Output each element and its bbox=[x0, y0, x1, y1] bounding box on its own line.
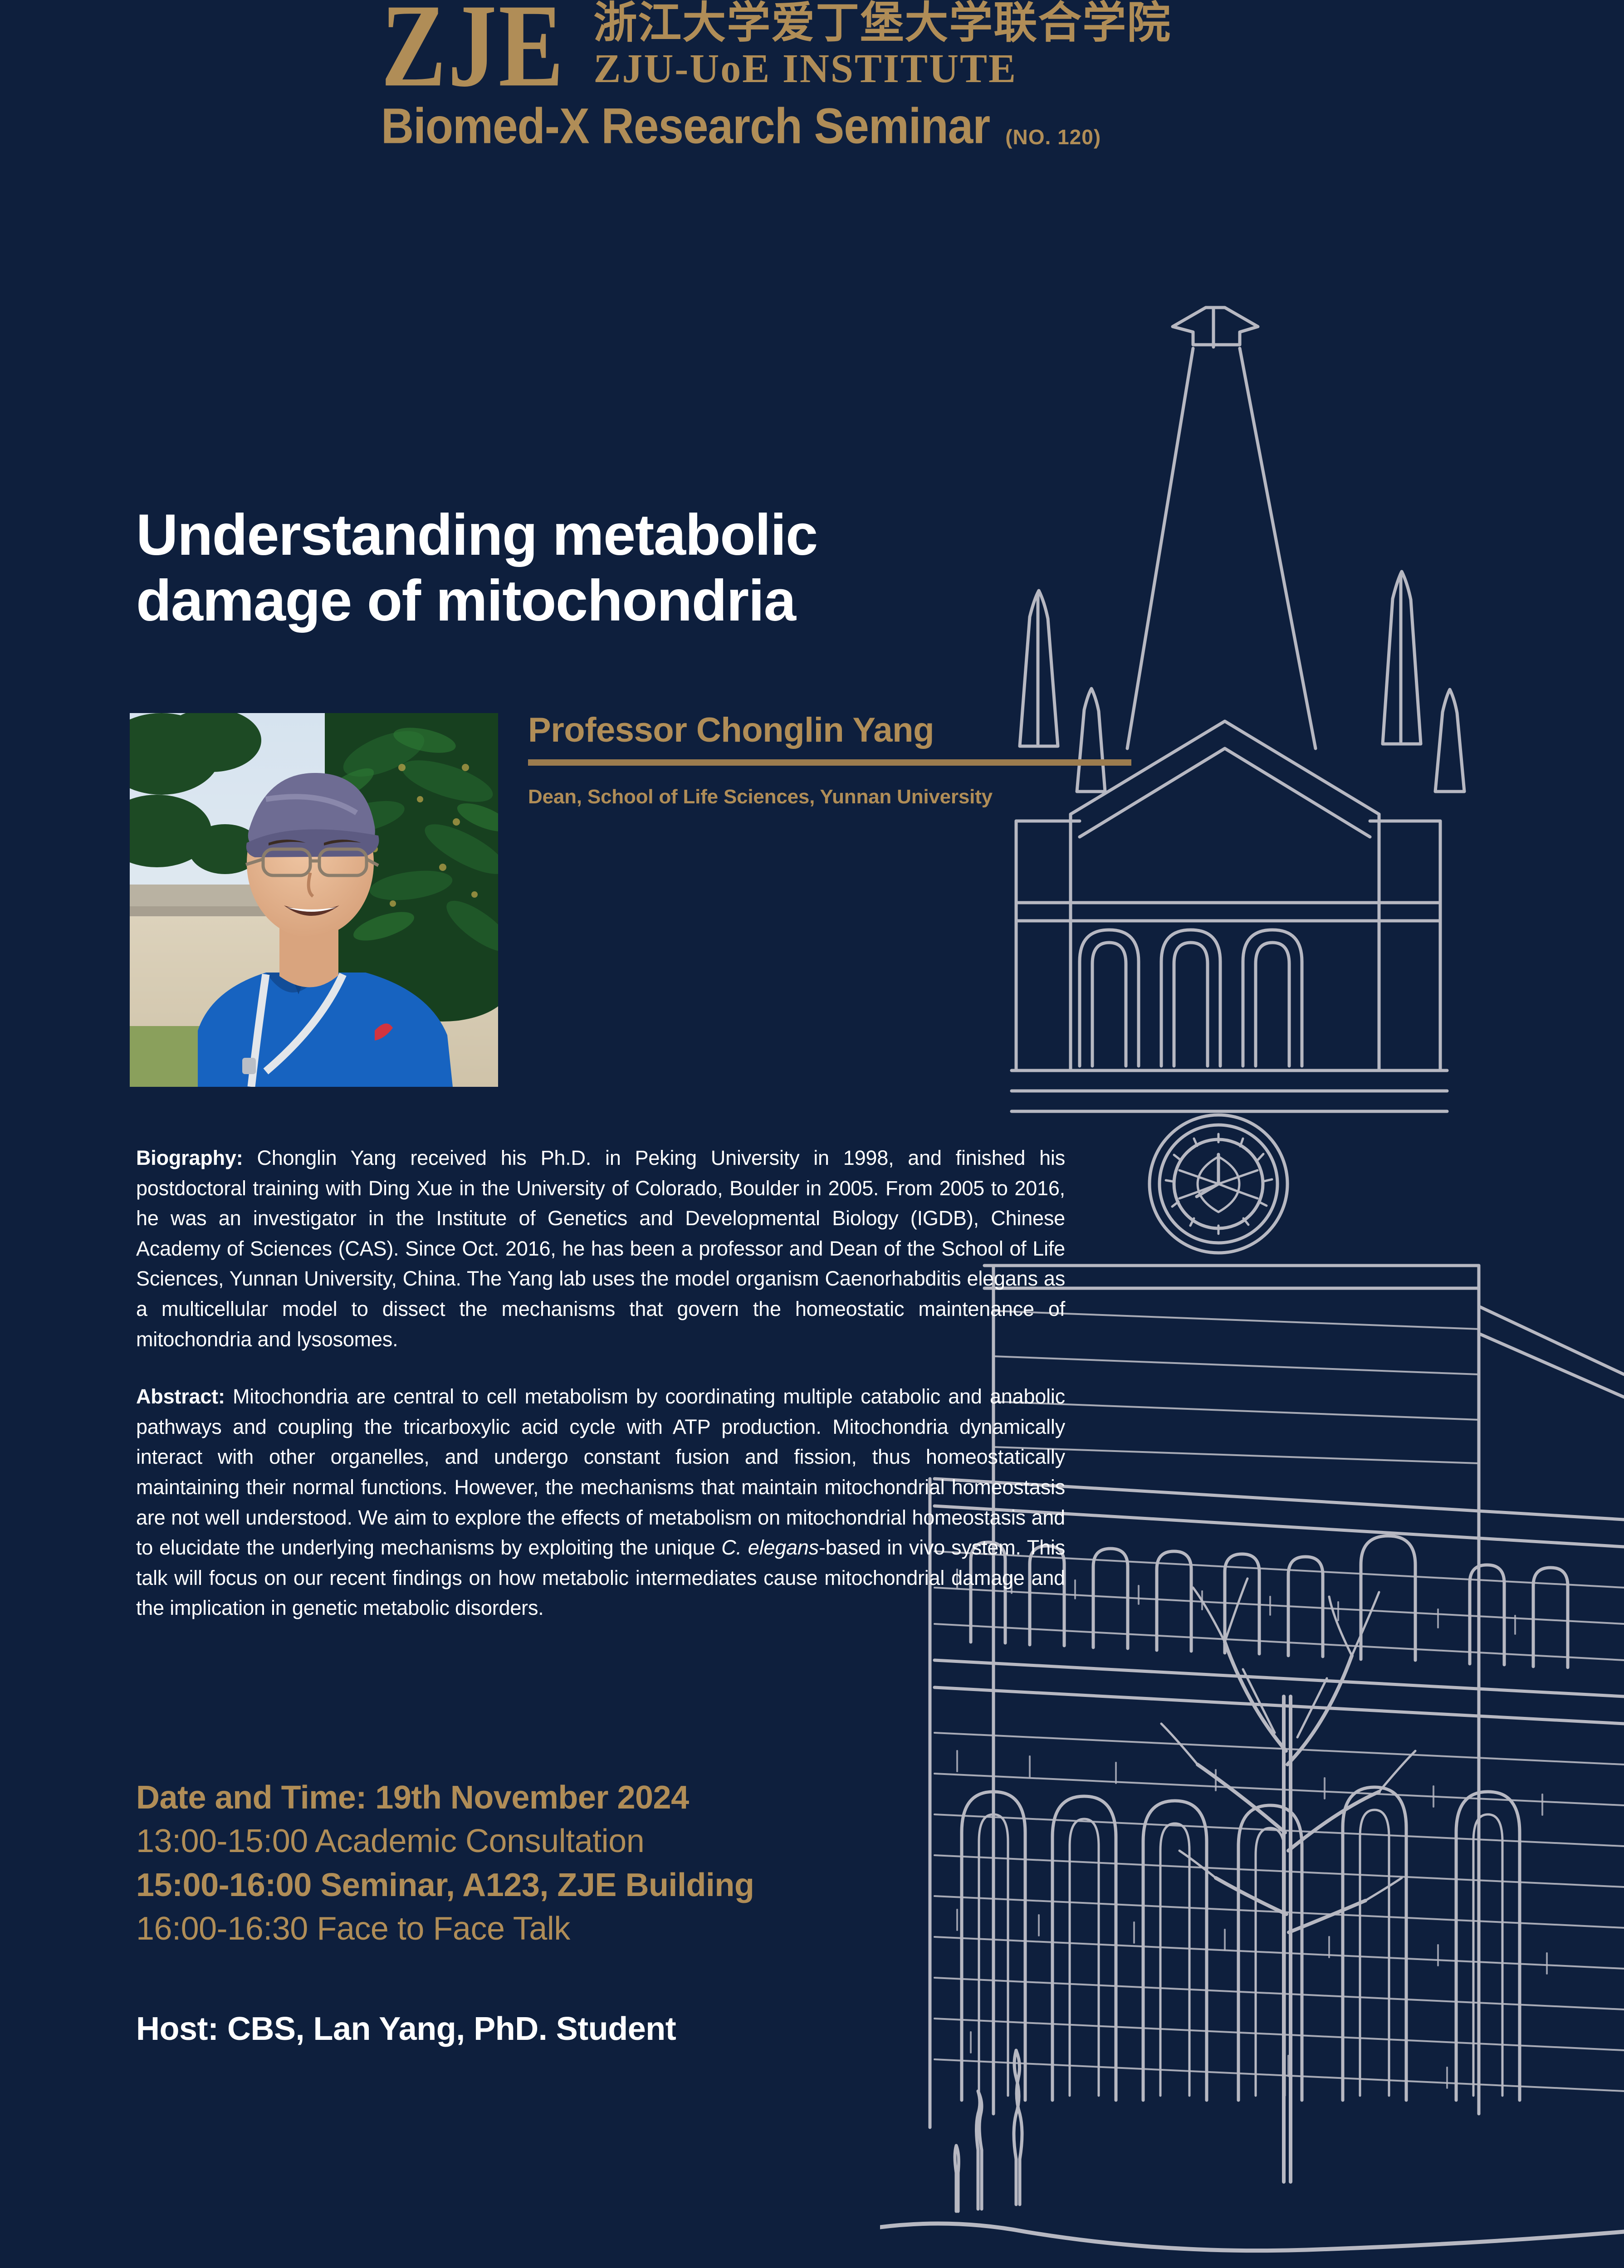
abstract-species-italic: C. elegans bbox=[721, 1536, 819, 1559]
talk-title-line-1: Understanding metabolic bbox=[136, 503, 1066, 568]
schedule-item-face-to-face: 16:00-16:30 Face to Face Talk bbox=[136, 1907, 998, 1950]
biography-label: Biography: bbox=[136, 1146, 243, 1169]
schedule-heading: Date and Time: 19th November 2024 bbox=[136, 1776, 998, 1819]
series-title: Biomed-X Research Seminar bbox=[381, 98, 990, 155]
speaker-name: Professor Chonglin Yang bbox=[528, 711, 1136, 749]
schedule-block: Date and Time: 19th November 2024 13:00-… bbox=[136, 1776, 998, 1951]
institute-logo: ZJE 浙江大学爱丁堡大学联合学院 ZJU-UoE INSTITUTE bbox=[0, 0, 1406, 95]
abstract-label: Abstract: bbox=[136, 1385, 225, 1408]
talk-title-line-2: damage of mitochondria bbox=[136, 568, 1066, 634]
speaker-divider bbox=[528, 759, 1131, 766]
biography-text: Chonglin Yang received his Ph.D. in Peki… bbox=[136, 1146, 1065, 1351]
series-banner: Biomed-X Research Seminar (NO. 120) bbox=[0, 103, 1406, 155]
institute-name-chinese: 浙江大学爱丁堡大学联合学院 bbox=[593, 0, 1171, 46]
biography-paragraph: Biography: Chonglin Yang received his Ph… bbox=[136, 1143, 1065, 1354]
page-title: Understanding metabolic damage of mitoch… bbox=[136, 503, 1066, 634]
series-number: (NO. 120) bbox=[1005, 125, 1101, 149]
zje-wordmark: ZJE bbox=[381, 0, 565, 95]
speaker-photo bbox=[130, 713, 498, 1087]
speaker-affiliation: Dean, School of Life Sciences, Yunnan Un… bbox=[528, 786, 1136, 808]
institute-name-english: ZJU-UoE INSTITUTE bbox=[593, 46, 1171, 92]
poster-header: ZJE 浙江大学爱丁堡大学联合学院 ZJU-UoE INSTITUTE Biom… bbox=[0, 0, 1406, 155]
abstract-text-part-1: Mitochondria are central to cell metabol… bbox=[136, 1385, 1065, 1559]
abstract-paragraph: Abstract: Mitochondria are central to ce… bbox=[136, 1382, 1065, 1623]
seminar-poster: ZJE 浙江大学爱丁堡大学联合学院 ZJU-UoE INSTITUTE Biom… bbox=[0, 0, 1624, 2268]
host-line: Host: CBS, Lan Yang, PhD. Student bbox=[136, 2010, 676, 2048]
institute-names: 浙江大学爱丁堡大学联合学院 ZJU-UoE INSTITUTE bbox=[593, 0, 1171, 95]
poster-body: Biography: Chonglin Yang received his Ph… bbox=[136, 1143, 1065, 1651]
schedule-item-seminar: 15:00-16:00 Seminar, A123, ZJE Building bbox=[136, 1863, 998, 1907]
schedule-item-consultation: 13:00-15:00 Academic Consultation bbox=[136, 1819, 998, 1863]
speaker-block: Professor Chonglin Yang Dean, School of … bbox=[528, 711, 1136, 808]
